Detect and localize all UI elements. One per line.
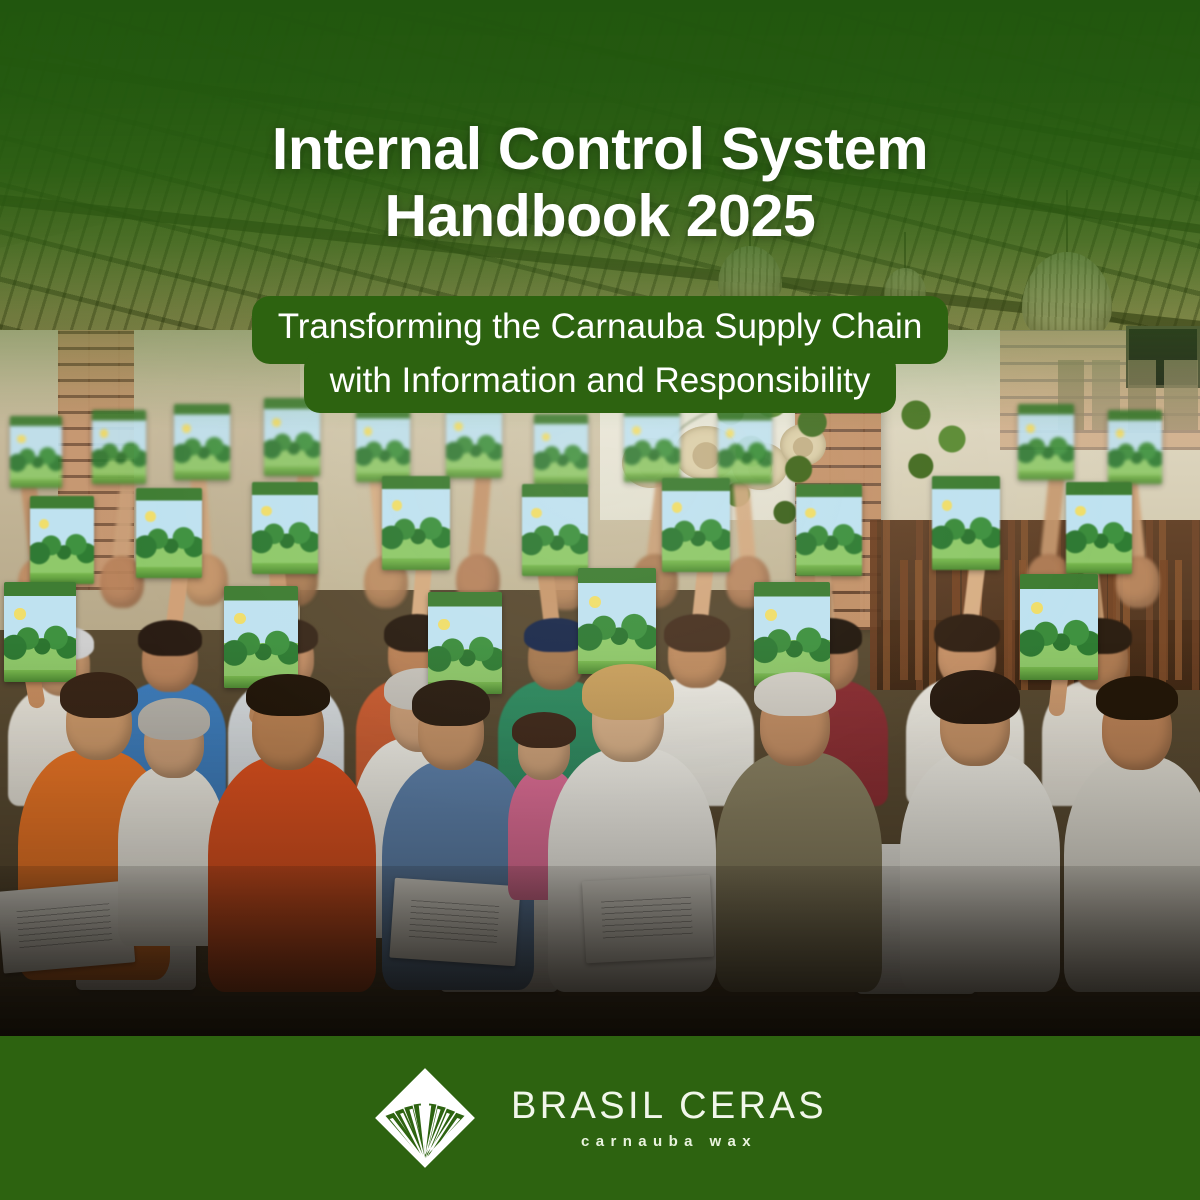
brand-name: BRASIL CERAS (511, 1087, 827, 1125)
subtitle-line-2: with Information and Responsibility (304, 352, 897, 414)
subtitle-banner: Transforming the Carnauba Supply Chain w… (0, 296, 1200, 413)
page-title: Internal Control System Handbook 2025 (0, 116, 1200, 251)
footer-brand-bar: BRASIL CERAS carnauba wax (0, 1036, 1200, 1200)
headline-line-2: Handbook 2025 (0, 183, 1200, 250)
carnauba-palm-diamond-icon (373, 1066, 477, 1170)
brand-lockup: BRASIL CERAS carnauba wax (511, 1087, 827, 1149)
headline-line-1: Internal Control System (0, 116, 1200, 183)
audience-crowd (0, 430, 1200, 1036)
brand-tagline: carnauba wax (581, 1134, 757, 1149)
poster-canvas: Internal Control System Handbook 2025 Tr… (0, 0, 1200, 1200)
